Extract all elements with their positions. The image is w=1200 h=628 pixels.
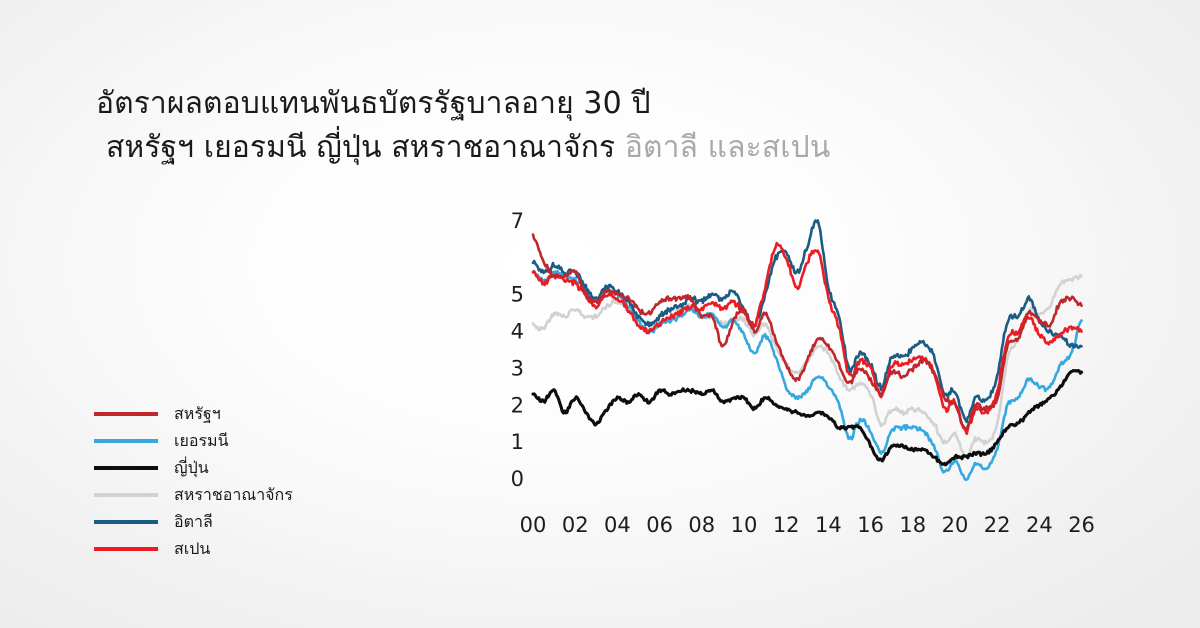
legend-swatch-spain xyxy=(94,547,158,551)
x-axis-tick-labels: 0002040608101214161820222426 xyxy=(520,513,1095,537)
y-tick-5: 5 xyxy=(511,283,524,307)
legend-swatch-germany xyxy=(94,439,158,443)
y-tick-3: 3 xyxy=(511,356,524,380)
infographic-page: อัตราผลตอบแทนพันธบัตรรัฐบาลอายุ 30 ปี สห… xyxy=(0,0,1200,628)
series-line-spain xyxy=(533,243,1082,434)
y-tick-4: 4 xyxy=(511,320,524,344)
legend-item-italy[interactable]: อิตาลี xyxy=(94,508,344,535)
x-tick-00: 00 xyxy=(520,513,547,537)
legend-label-germany: เยอรมนี xyxy=(174,433,229,449)
x-tick-14: 14 xyxy=(815,513,842,537)
legend-label-uk: สหราชอาณาจักร xyxy=(174,487,293,503)
x-tick-24: 24 xyxy=(1026,513,1053,537)
title-line-2-countries-dark: สหรัฐฯ เยอรมนี ญี่ปุ่น สหราชอาณาจักร xyxy=(106,130,625,165)
legend-item-germany[interactable]: เยอรมนี xyxy=(94,427,344,454)
x-tick-20: 20 xyxy=(942,513,969,537)
legend-label-japan: ญี่ปุ่น xyxy=(174,460,209,476)
legend-item-spain[interactable]: สเปน xyxy=(94,535,344,562)
x-tick-06: 06 xyxy=(646,513,673,537)
legend-swatch-uk xyxy=(94,493,158,497)
title-line-1: อัตราผลตอบแทนพันธบัตรรัฐบาลอายุ 30 ปี xyxy=(96,82,1096,126)
chart-legend: สหรัฐฯเยอรมนีญี่ปุ่นสหราชอาณาจักรอิตาลีส… xyxy=(94,400,344,562)
x-tick-18: 18 xyxy=(899,513,926,537)
legend-label-italy: อิตาลี xyxy=(174,514,213,530)
legend-item-japan[interactable]: ญี่ปุ่น xyxy=(94,454,344,481)
legend-item-us[interactable]: สหรัฐฯ xyxy=(94,400,344,427)
legend-label-us: สหรัฐฯ xyxy=(174,406,221,422)
x-tick-16: 16 xyxy=(857,513,884,537)
page-title: อัตราผลตอบแทนพันธบัตรรัฐบาลอายุ 30 ปี สห… xyxy=(96,82,1096,170)
y-tick-7: 7 xyxy=(511,209,524,233)
chart-series-group xyxy=(533,221,1082,480)
legend-item-uk[interactable]: สหราชอาณาจักร xyxy=(94,481,344,508)
title-line-2-countries-muted: อิตาลี และสเปน xyxy=(625,130,830,165)
legend-swatch-japan xyxy=(94,466,158,470)
line-chart: 0123457 0002040608101214161820222426 xyxy=(495,190,1095,545)
y-axis-tick-labels: 0123457 xyxy=(511,209,524,491)
x-tick-12: 12 xyxy=(773,513,800,537)
y-tick-2: 2 xyxy=(511,393,524,417)
legend-label-spain: สเปน xyxy=(174,541,210,557)
y-tick-0: 0 xyxy=(511,467,524,491)
x-tick-08: 08 xyxy=(688,513,715,537)
x-tick-22: 22 xyxy=(984,513,1011,537)
x-tick-02: 02 xyxy=(562,513,589,537)
x-tick-04: 04 xyxy=(604,513,631,537)
legend-swatch-italy xyxy=(94,520,158,524)
x-tick-26: 26 xyxy=(1068,513,1095,537)
chart-svg: 0123457 0002040608101214161820222426 xyxy=(495,190,1095,545)
legend-swatch-us xyxy=(94,412,158,416)
title-line-2: สหรัฐฯ เยอรมนี ญี่ปุ่น สหราชอาณาจักร อิต… xyxy=(96,126,1096,170)
y-tick-1: 1 xyxy=(511,430,524,454)
x-tick-10: 10 xyxy=(731,513,758,537)
